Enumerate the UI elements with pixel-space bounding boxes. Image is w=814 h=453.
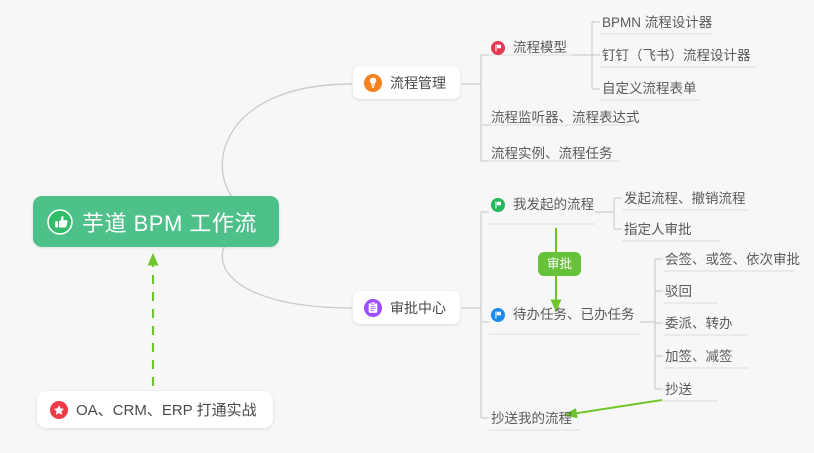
node-custom-process-form[interactable]: 自定义流程表单 xyxy=(602,80,697,100)
branch-label: 审批中心 xyxy=(390,298,446,318)
node-label: BPMN 流程设计器 xyxy=(602,14,712,31)
node-wo-faqi-de-liucheng[interactable]: 我发起的流程 xyxy=(491,196,594,216)
mindmap-canvas: 芋道 BPM 工作流 流程管理 流程模型 BPMN 流程设计器 钉钉（飞书）流程… xyxy=(0,0,814,453)
node-zhidingren-shenpi[interactable]: 指定人审批 xyxy=(624,221,692,241)
node-label: 我发起的流程 xyxy=(513,196,594,213)
node-weipai-zhuanban[interactable]: 委派、转办 xyxy=(665,315,733,335)
footer-node-oa-crm-erp[interactable]: OA、CRM、ERP 打通实战 xyxy=(37,391,273,428)
root-node[interactable]: 芋道 BPM 工作流 xyxy=(33,196,279,247)
node-label: 抄送我的流程 xyxy=(491,410,572,427)
branch-node-shenpi-zhongxin[interactable]: 审批中心 xyxy=(353,291,460,324)
node-liucheng-moxing[interactable]: 流程模型 xyxy=(491,39,567,59)
root-label: 芋道 BPM 工作流 xyxy=(82,206,257,238)
node-label: 流程实例、流程任务 xyxy=(491,145,613,162)
branch-node-liucheng-guanli[interactable]: 流程管理 xyxy=(353,66,460,99)
node-jiaqian-jianqian[interactable]: 加签、减签 xyxy=(665,348,733,368)
approval-flow-chip: 审批 xyxy=(538,252,581,276)
node-label: 指定人审批 xyxy=(624,221,692,238)
flag-icon xyxy=(491,308,505,322)
node-label: 发起流程、撤销流程 xyxy=(624,190,746,207)
node-label: 流程模型 xyxy=(513,39,567,56)
node-chaosong[interactable]: 抄送 xyxy=(665,381,692,401)
node-label: 自定义流程表单 xyxy=(602,80,697,97)
node-bpmn-designer[interactable]: BPMN 流程设计器 xyxy=(602,14,712,34)
star-icon xyxy=(50,401,68,419)
node-liucheng-shili[interactable]: 流程实例、流程任务 xyxy=(491,145,613,165)
node-daiban-yiban-renwu[interactable]: 待办任务、已办任务 xyxy=(491,306,635,326)
node-chaosong-wode-liucheng[interactable]: 抄送我的流程 xyxy=(491,410,572,430)
node-label: 流程监听器、流程表达式 xyxy=(491,109,640,126)
node-huiqian-huoqian-yici[interactable]: 会签、或签、依次审批 xyxy=(665,251,800,271)
node-label: 会签、或签、依次审批 xyxy=(665,251,800,268)
branch-label: 流程管理 xyxy=(390,73,446,93)
lightbulb-icon xyxy=(364,74,382,92)
flag-icon xyxy=(491,41,505,55)
node-label: 驳回 xyxy=(665,283,692,300)
clipboard-icon xyxy=(364,299,382,317)
node-label: 钉钉（飞书）流程设计器 xyxy=(602,47,751,64)
thumbs-up-icon xyxy=(47,209,73,235)
node-label: 加签、减签 xyxy=(665,348,733,365)
node-liucheng-jiantingqi[interactable]: 流程监听器、流程表达式 xyxy=(491,109,640,129)
flag-icon xyxy=(491,198,505,212)
node-dingtalk-feishu-designer[interactable]: 钉钉（飞书）流程设计器 xyxy=(602,47,751,67)
node-bohui[interactable]: 驳回 xyxy=(665,283,692,303)
chip-label: 审批 xyxy=(547,257,572,271)
node-label: 待办任务、已办任务 xyxy=(513,306,635,323)
footer-label: OA、CRM、ERP 打通实战 xyxy=(76,399,257,420)
node-faqi-chexiao-liucheng[interactable]: 发起流程、撤销流程 xyxy=(624,190,746,210)
node-label: 抄送 xyxy=(665,381,692,398)
node-label: 委派、转办 xyxy=(665,315,733,332)
